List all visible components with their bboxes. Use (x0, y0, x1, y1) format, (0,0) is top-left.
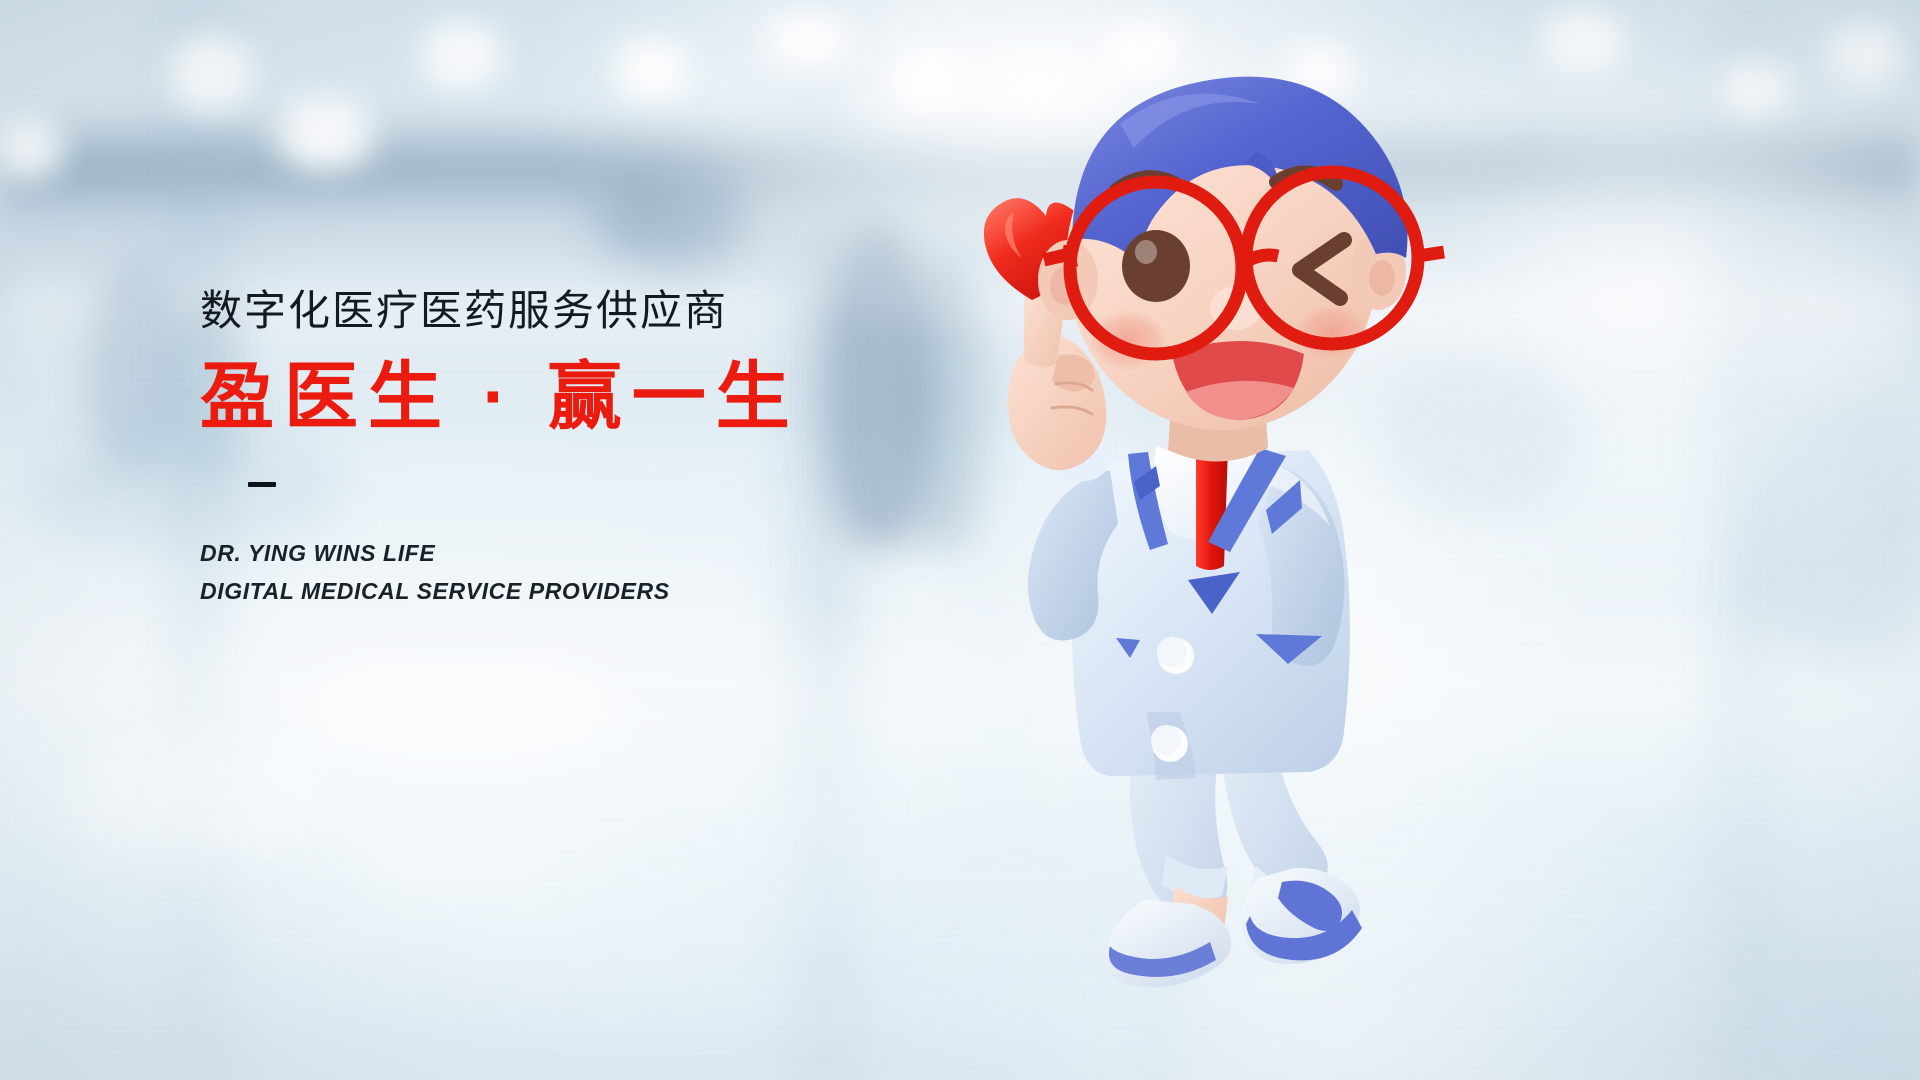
blurred-person-2 (88, 262, 184, 472)
tagline-block: DR. YING WINS LIFE DIGITAL MEDICAL SERVI… (200, 535, 960, 610)
divider-rule (248, 482, 276, 487)
blurred-object-5 (60, 740, 320, 860)
ceiling-light-4 (598, 36, 706, 102)
open-eye (1122, 230, 1190, 302)
hero-banner: 数字化医疗医药服务供应商 盈医生 · 赢一生 DR. YING WINS LIF… (0, 0, 1920, 1080)
blurred-object-0 (600, 168, 750, 260)
doctor-character-illustration (960, 40, 1660, 1080)
headline-slogan: 盈医生 · 赢一生 (200, 356, 960, 439)
ceiling-light-2 (0, 110, 76, 184)
tagline-line-1: DR. YING WINS LIFE (200, 535, 960, 572)
ceiling-light-11 (1812, 20, 1920, 90)
hero-copy-block: 数字化医疗医药服务供应商 盈医生 · 赢一生 DR. YING WINS LIF… (200, 286, 960, 610)
ceiling-light-3 (402, 20, 520, 90)
headline-subtitle: 数字化医疗医药服务供应商 (200, 286, 960, 336)
tagline-line-2: DIGITAL MEDICAL SERVICE PROVIDERS (200, 573, 960, 610)
ceiling-light-0 (150, 30, 270, 116)
blurred-object-4 (300, 660, 620, 770)
ceiling-light-5 (742, 8, 874, 70)
ceiling-light-10 (1700, 60, 1810, 118)
ceiling-light-1 (255, 95, 395, 171)
blurred-object-3 (1760, 400, 1920, 660)
